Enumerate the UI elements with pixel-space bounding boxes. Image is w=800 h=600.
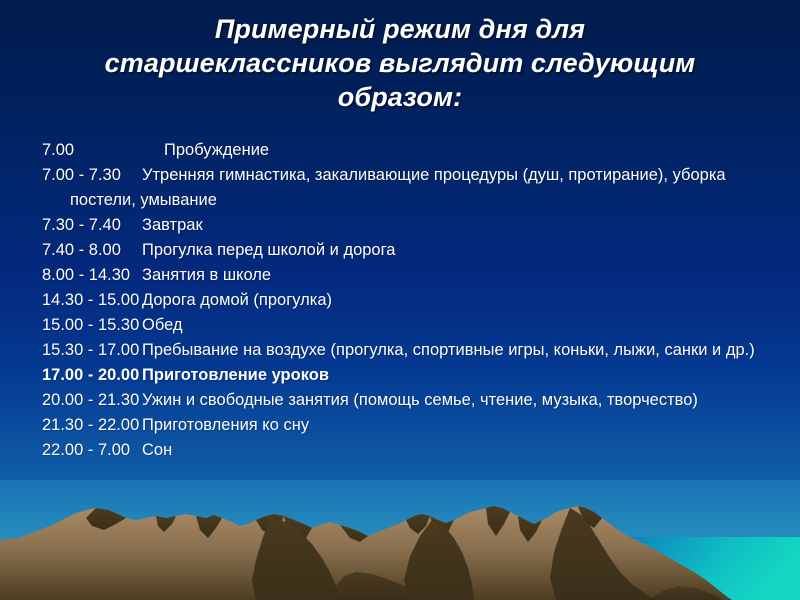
schedule-row: 14.30 - 15.00Дорога домой (прогулка) xyxy=(42,288,766,313)
schedule-time: 20.00 - 21.30 xyxy=(42,388,142,413)
schedule-time: 8.00 - 14.30 xyxy=(42,263,142,288)
schedule-row-highlighted: 17.00 - 20.00Приготовление уроков xyxy=(42,363,766,388)
schedule-desc: Пребывание на воздухе (прогулка, спортив… xyxy=(142,341,755,359)
schedule-time: 15.00 - 15.30 xyxy=(42,313,142,338)
schedule-desc: Утренняя гимнастика, закаливающие процед… xyxy=(70,166,726,209)
schedule-row: 22.00 - 7.00Сон xyxy=(42,438,766,463)
title-line-1: Примерный режим дня для xyxy=(40,12,760,46)
schedule-row: 7.40 - 8.00Прогулка перед школой и дорог… xyxy=(42,238,766,263)
schedule-desc: Прогулка перед школой и дорога xyxy=(142,241,395,259)
slide-canvas: Примерный режим дня для старшеклассников… xyxy=(0,0,800,600)
title-line-3: образом: xyxy=(40,80,760,114)
schedule-row: 15.00 - 15.30Обед xyxy=(42,313,766,338)
schedule-time: 14.30 - 15.00 xyxy=(42,288,142,313)
schedule-desc: Занятия в школе xyxy=(142,266,271,284)
title-line-2: старшеклассников выглядит следующим xyxy=(40,46,760,80)
schedule-desc: Обед xyxy=(142,316,183,334)
schedule-time: 7.30 - 7.40 xyxy=(42,213,142,238)
schedule-desc: Приготовления ко сну xyxy=(142,416,309,434)
schedule-desc: Дорога домой (прогулка) xyxy=(142,291,332,309)
schedule-row: 8.00 - 14.30Занятия в школе xyxy=(42,263,766,288)
schedule-time: 17.00 - 20.00 xyxy=(42,363,142,388)
schedule-row: 15.30 - 17.00Пребывание на воздухе (прог… xyxy=(42,338,766,363)
schedule-desc: Приготовление уроков xyxy=(142,366,329,384)
schedule-row: 20.00 - 21.30Ужин и свободные занятия (п… xyxy=(42,388,766,413)
schedule-row: 21.30 - 22.00Приготовления ко сну xyxy=(42,413,766,438)
schedule-desc: Завтрак xyxy=(142,216,203,234)
schedule-row: 7.00Пробуждение xyxy=(42,138,766,163)
mountain-landscape-image xyxy=(0,480,800,600)
schedule-row: 7.00 - 7.30Утренняя гимнастика, закалива… xyxy=(42,163,766,213)
schedule-time: 7.40 - 8.00 xyxy=(42,238,142,263)
schedule-desc: Пробуждение xyxy=(164,141,269,159)
schedule-time: 15.30 - 17.00 xyxy=(42,338,142,363)
schedule-time: 7.00 xyxy=(42,138,164,163)
schedule-row: 7.30 - 7.40Завтрак xyxy=(42,213,766,238)
schedule-time: 21.30 - 22.00 xyxy=(42,413,142,438)
schedule-desc: Ужин и свободные занятия (помощь семье, … xyxy=(142,391,698,409)
schedule-list: 7.00Пробуждение 7.00 - 7.30Утренняя гимн… xyxy=(42,138,766,463)
schedule-time: 22.00 - 7.00 xyxy=(42,438,142,463)
schedule-desc: Сон xyxy=(142,441,172,459)
schedule-time: 7.00 - 7.30 xyxy=(42,163,142,188)
page-title: Примерный режим дня для старшеклассников… xyxy=(40,12,760,114)
